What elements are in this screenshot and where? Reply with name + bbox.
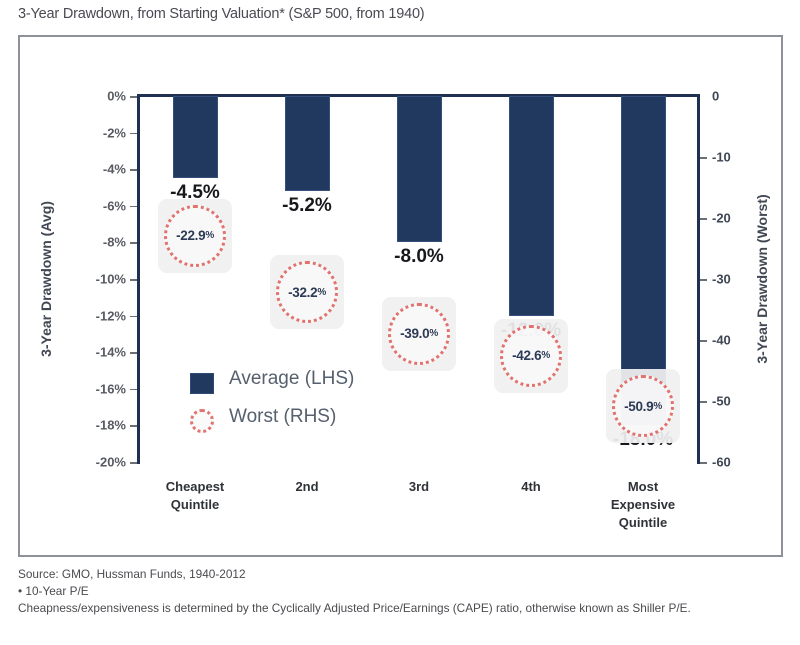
left-tick-mark: [130, 242, 137, 244]
bar-average: [173, 96, 218, 178]
right-tick-mark: [700, 218, 707, 220]
page-title: 3-Year Drawdown, from Starting Valuation…: [18, 6, 424, 22]
bar-average: [285, 96, 330, 191]
bar-average: [397, 96, 442, 242]
category-label: 2nd: [295, 478, 318, 496]
right-tick-label: 0: [712, 89, 719, 104]
left-tick-label: -12%: [96, 308, 126, 323]
category-label: 3rd: [409, 478, 429, 496]
left-tick-label: -4%: [103, 162, 126, 177]
right-tick-label: -60: [712, 455, 731, 470]
left-axis-title: 3-Year Drawdown (Avg): [38, 201, 54, 357]
left-tick-label: -6%: [103, 198, 126, 213]
left-tick-mark: [130, 462, 137, 464]
left-tick-label: 0%: [107, 89, 126, 104]
left-tick-label: -14%: [96, 345, 126, 360]
worst-value-marker: -32.2%: [270, 255, 344, 329]
right-tick-mark: [700, 279, 707, 281]
left-axis-spine: [137, 94, 140, 464]
left-tick-label: -18%: [96, 418, 126, 433]
right-tick-label: -30: [712, 272, 731, 287]
worst-value-marker: -22.9%: [158, 199, 232, 273]
footnote-source: Source: GMO, Hussman Funds, 1940-2012: [18, 566, 788, 583]
bar-value-label: -5.2%: [282, 195, 332, 217]
right-tick-mark: [700, 462, 707, 464]
dashed-circle-icon: [190, 409, 214, 433]
legend-label-average: Average (LHS): [229, 368, 354, 390]
footnote-cape: Cheapness/expensiveness is determined by…: [18, 600, 788, 617]
left-tick-mark: [130, 352, 137, 354]
right-tick-label: -50: [712, 394, 731, 409]
left-tick-label: -16%: [96, 381, 126, 396]
left-tick-mark: [130, 425, 137, 427]
left-tick-mark: [130, 133, 137, 135]
left-tick-label: -2%: [103, 125, 126, 140]
right-axis-title: 3-Year Drawdown (Worst): [754, 194, 770, 363]
bar-value-label: -8.0%: [394, 246, 444, 268]
worst-value-marker: -39.0%: [382, 297, 456, 371]
left-tick-mark: [130, 389, 137, 391]
right-tick-mark: [700, 340, 707, 342]
worst-value-label: -42.6%: [494, 319, 568, 393]
worst-value-label: -32.2%: [270, 255, 344, 329]
left-tick-mark: [130, 206, 137, 208]
worst-value-marker: -50.9%: [606, 369, 680, 443]
left-tick-mark: [130, 279, 137, 281]
footnote-pe: • 10-Year P/E: [18, 583, 788, 600]
right-tick-label: -10: [712, 150, 731, 165]
navy-square-icon: [190, 373, 214, 394]
left-tick-label: -8%: [103, 235, 126, 250]
left-tick-mark: [130, 96, 137, 98]
left-tick-mark: [130, 169, 137, 171]
worst-value-label: -22.9%: [158, 199, 232, 273]
worst-value-label: -39.0%: [382, 297, 456, 371]
legend-label-worst: Worst (RHS): [229, 406, 336, 428]
left-tick-label: -10%: [96, 272, 126, 287]
worst-value-marker: -42.6%: [494, 319, 568, 393]
footnotes: Source: GMO, Hussman Funds, 1940-2012 • …: [18, 566, 788, 617]
right-tick-label: -40: [712, 333, 731, 348]
left-tick-mark: [130, 316, 137, 318]
bar-average: [509, 96, 554, 316]
left-tick-label: -20%: [96, 455, 126, 470]
right-tick-mark: [700, 401, 707, 403]
category-label: Cheapest Quintile: [166, 478, 225, 514]
worst-value-label: -50.9%: [606, 369, 680, 443]
category-label: 4th: [521, 478, 541, 496]
category-label: Most Expensive Quintile: [611, 478, 675, 532]
right-tick-mark: [700, 157, 707, 159]
right-tick-label: -20: [712, 211, 731, 226]
